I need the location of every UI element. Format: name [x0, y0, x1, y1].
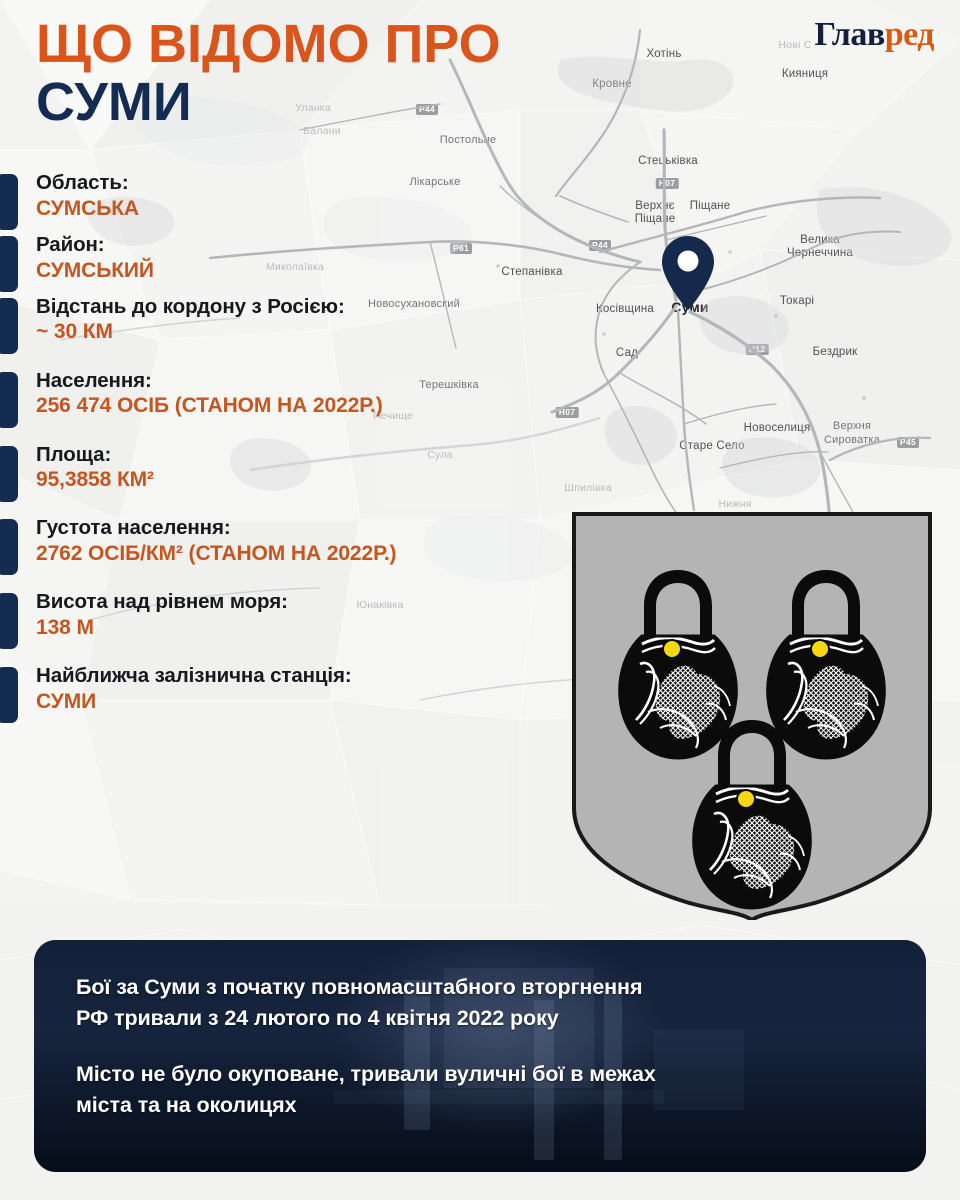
coat-of-arms-shield-icon [568, 508, 936, 920]
fact-value: ~ 30 КМ [36, 319, 560, 345]
fact-label: Висота над рівнем моря: [36, 589, 560, 615]
page-title-line2: СУМИ [36, 75, 501, 129]
page-title: ЩО ВІДОМО ПРО СУМИ [36, 18, 501, 129]
fact-item: Площа:95,3858 КМ² [0, 442, 560, 494]
fact-label: Населення: [36, 368, 560, 394]
fact-marker [0, 298, 18, 354]
fact-item: Населення:256 474 ОСІБ (СТАНОМ НА 2022Р.… [0, 368, 560, 420]
panel-text: Бої за Суми з початку повномасштабного в… [34, 940, 926, 1120]
fact-item: Відстань до кордону з Росією:~ 30 КМ [0, 294, 560, 346]
brand-logo[interactable]: Главред [815, 18, 935, 52]
fact-label: Площа: [36, 442, 560, 468]
fact-marker [0, 667, 18, 723]
fact-marker [0, 593, 18, 649]
map-pin-icon [662, 236, 714, 310]
fact-marker [0, 519, 18, 575]
panel-p2-line1: Місто не було окуповане, тривали вуличні… [76, 1059, 886, 1090]
infographic-canvas: ХотіньКровнеНові СКияницяУланкаБаланиПос… [0, 0, 960, 1200]
fact-value: СУМСЬКА [36, 196, 560, 222]
fact-label: Район: [36, 232, 560, 258]
fact-item: Район:СУМСЬКИЙ [0, 232, 560, 284]
fact-item: Найближча залізнична станція:СУМИ [0, 663, 560, 715]
fact-value: 256 474 ОСІБ (СТАНОМ НА 2022Р.) [36, 393, 560, 419]
fact-value: 138 М [36, 615, 560, 641]
panel-p1-line2: РФ тривали з 24 лютого по 4 квітня 2022 … [76, 1003, 886, 1034]
panel-p1-line1: Бої за Суми з початку повномасштабного в… [76, 972, 886, 1003]
fact-marker [0, 236, 18, 292]
summary-panel: Бої за Суми з початку повномасштабного в… [34, 940, 926, 1172]
fact-label: Найближча залізнична станція: [36, 663, 560, 689]
fact-value: СУМИ [36, 689, 560, 715]
fact-marker [0, 372, 18, 428]
fact-item: Висота над рівнем моря:138 М [0, 589, 560, 641]
fact-item: Густота населення:2762 ОСІБ/КМ² (СТАНОМ … [0, 515, 560, 567]
fact-label: Густота населення: [36, 515, 560, 541]
coat-of-arms [568, 508, 936, 920]
fact-list: Область:СУМСЬКАРайон:СУМСЬКИЙВідстань до… [0, 170, 560, 725]
fact-item: Область:СУМСЬКА [0, 170, 560, 222]
fact-value: 2762 ОСІБ/КМ² (СТАНОМ НА 2022Р.) [36, 541, 560, 567]
page-title-line1: ЩО ВІДОМО ПРО [36, 18, 501, 71]
fact-marker [0, 174, 18, 230]
fact-marker [0, 446, 18, 502]
fact-value: 95,3858 КМ² [36, 467, 560, 493]
logo-text-primary: Глав [815, 16, 885, 53]
panel-paragraph-gap [76, 1033, 886, 1059]
fact-label: Відстань до кордону з Росією: [36, 294, 560, 320]
panel-p2-line2: міста та на околицях [76, 1090, 886, 1121]
logo-text-accent: ред [885, 16, 934, 53]
fact-label: Область: [36, 170, 560, 196]
fact-value: СУМСЬКИЙ [36, 258, 560, 284]
